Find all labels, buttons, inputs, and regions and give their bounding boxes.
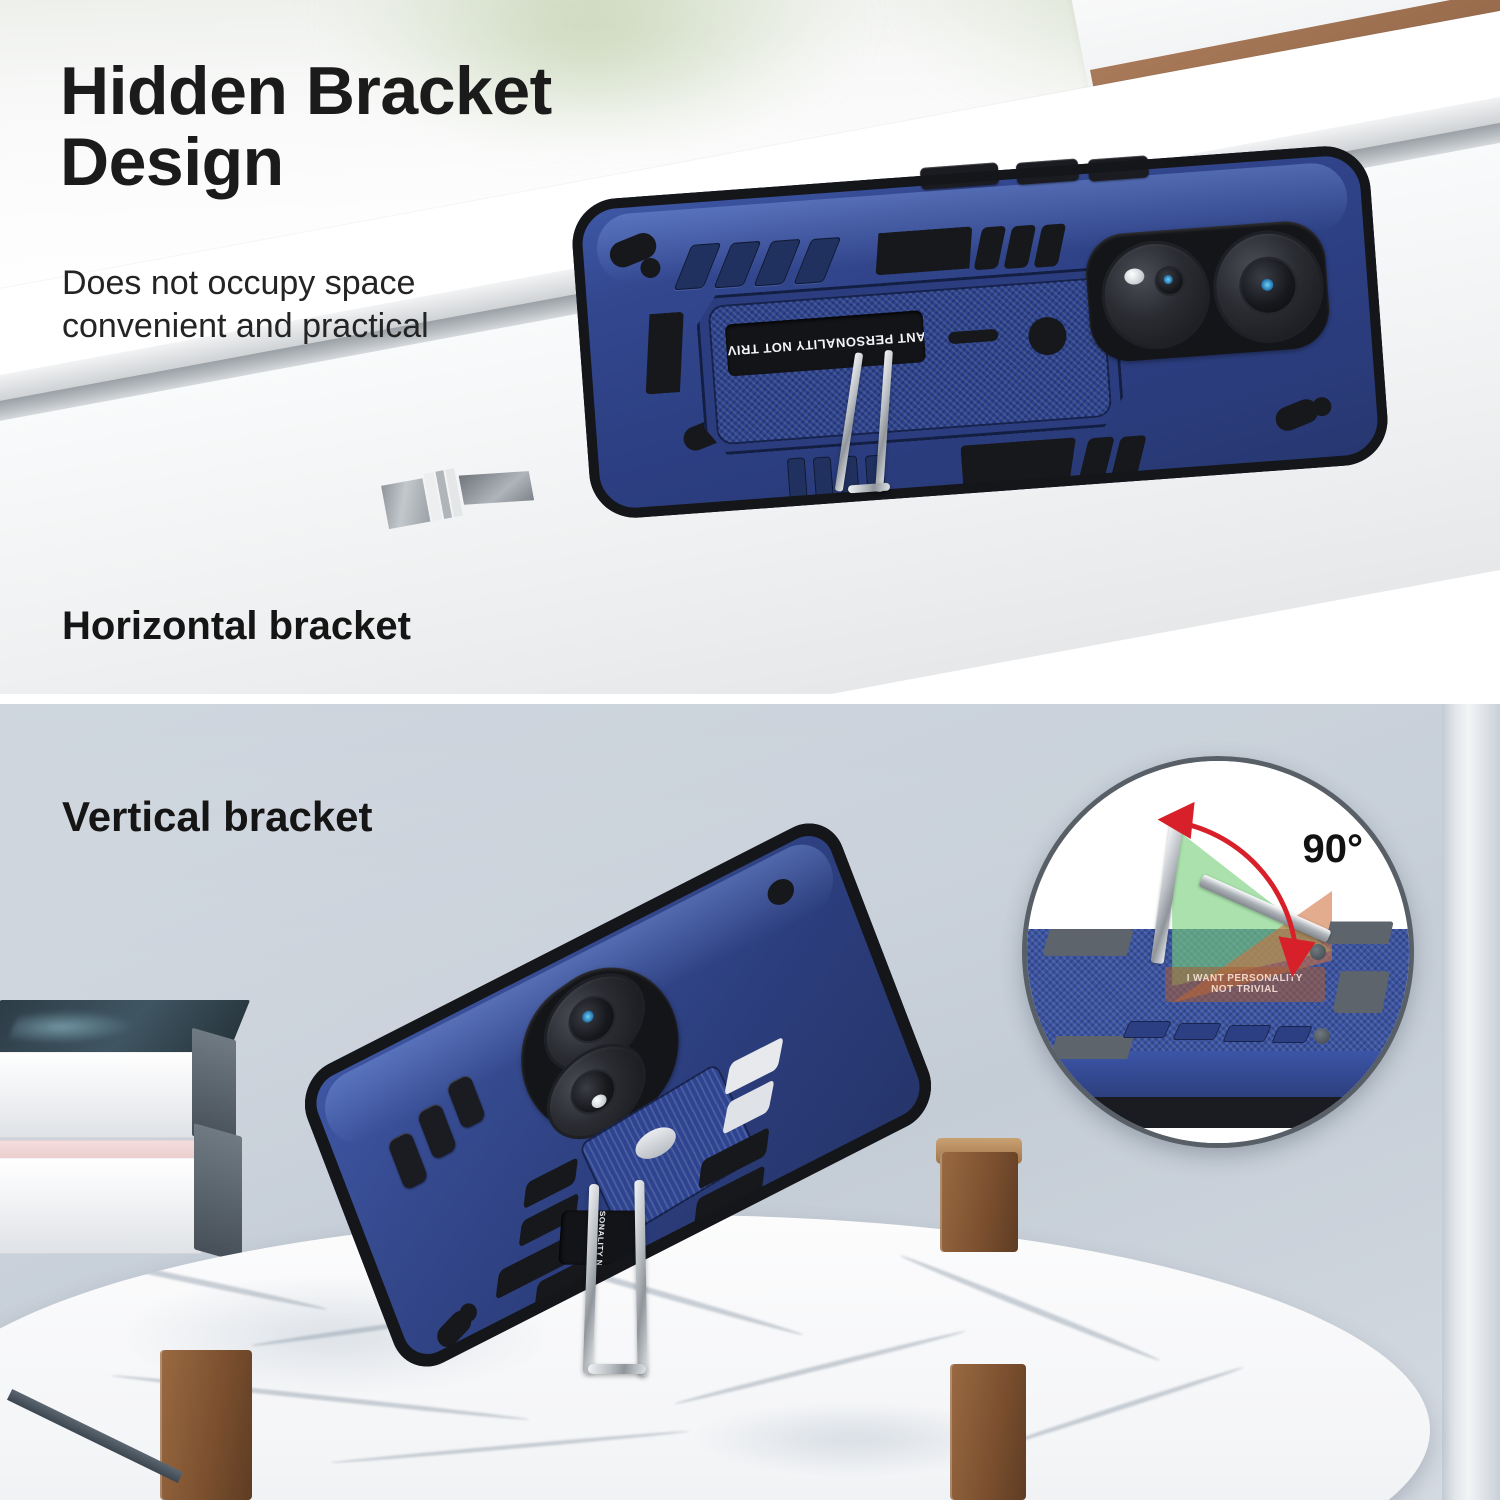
product-feature-image: I WANT PERSONALITY NOT TRIVIAL xyxy=(0,0,1500,1500)
label-horizontal-bracket: Horizontal bracket xyxy=(62,604,411,649)
phone-case-horizontal: I WANT PERSONALITY NOT TRIVIAL xyxy=(569,143,1390,521)
angle-detail-inset: I WANT PERSONALITY NOT TRIVIAL 90° xyxy=(1022,756,1414,1148)
panel-divider xyxy=(0,694,1500,704)
angle-label: 90° xyxy=(1303,827,1364,872)
top-panel: I WANT PERSONALITY NOT TRIVIAL xyxy=(0,0,1500,697)
book-bottom-spine xyxy=(194,1123,242,1263)
page-subtitle: Does not occupy space convenient and pra… xyxy=(62,262,622,348)
background-curtain xyxy=(1442,704,1500,1500)
angle-arrow-icon xyxy=(1027,761,1409,1143)
kickstand-wire-vertical-foot[interactable] xyxy=(588,1364,646,1374)
label-vertical-bracket: Vertical bracket xyxy=(62,793,373,841)
table-leg-right xyxy=(950,1364,1026,1500)
page-title: Hidden Bracket Design xyxy=(60,56,780,199)
table-leg-rear xyxy=(940,1152,1018,1252)
book-stack xyxy=(0,1000,270,1230)
